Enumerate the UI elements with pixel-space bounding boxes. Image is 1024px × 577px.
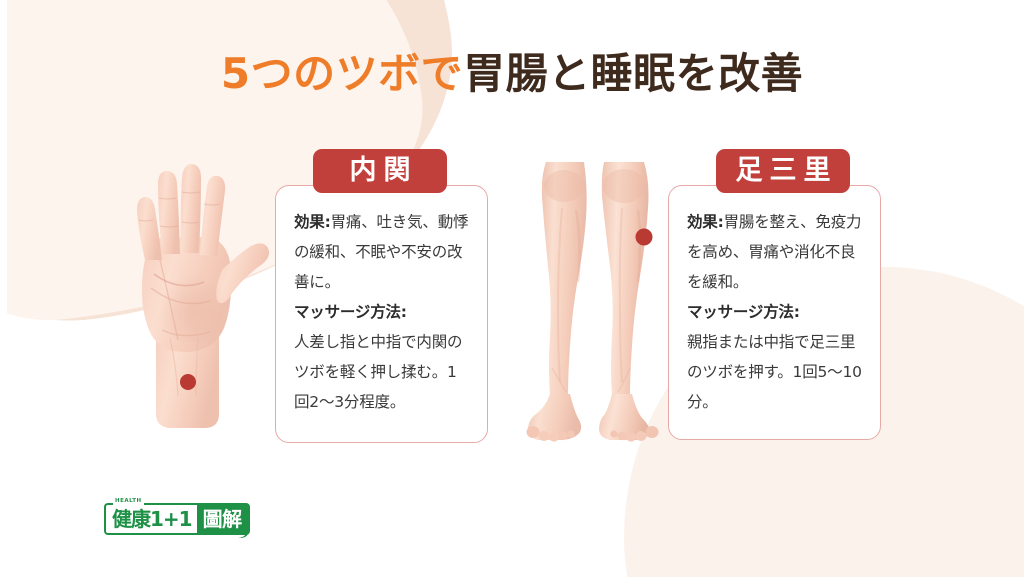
acupoint-marker-neiguan: [180, 374, 196, 390]
brand-logo-superscript: HEALTH: [113, 498, 144, 505]
brand-logo-right: 圖解: [197, 503, 250, 535]
neiguan-method-text: 人差し指と中指で内関のツボを軽く押し揉む。1回2〜3分程度。: [294, 333, 462, 411]
infographic-canvas: 5つのツボで胃腸と睡眠を改善: [0, 0, 1024, 577]
brand-logo: HEALTH 健康1+1 圖解: [104, 503, 250, 535]
point-card-zusanli: 効果:胃腸を整え、免疫力を高め、胃痛や消化不良を緩和。 マッサージ方法: 親指ま…: [668, 185, 881, 440]
page-title-main: 胃腸と睡眠を改善: [463, 49, 803, 98]
page-title: 5つのツボで胃腸と睡眠を改善: [0, 40, 1024, 101]
zusanli-method: マッサージ方法: 親指または中指で足三里のツボを押す。1回5〜10分。: [687, 298, 862, 417]
page-title-highlight: 5つのツボで: [221, 49, 463, 98]
brand-logo-right-text: 圖解: [203, 507, 242, 531]
zusanli-method-label: マッサージ方法:: [687, 303, 800, 321]
leaf-icon: [238, 529, 249, 538]
zusanli-effect: 効果:胃腸を整え、免疫力を高め、胃痛や消化不良を緩和。: [687, 208, 862, 297]
neiguan-method: マッサージ方法: 人差し指と中指で内関のツボを軽く押し揉む。1回2〜3分程度。: [294, 298, 469, 417]
acupoint-marker-zusanli: [636, 229, 653, 246]
zusanli-effect-label: 効果:: [687, 213, 724, 231]
point-card-zusanli-body: 効果:胃腸を整え、免疫力を高め、胃痛や消化不良を緩和。 マッサージ方法: 親指ま…: [669, 186, 880, 417]
brand-logo-left: HEALTH 健康1+1: [104, 503, 197, 535]
neiguan-method-label: マッサージ方法:: [294, 303, 407, 321]
legs-illustration: [520, 160, 680, 460]
point-badge-neiguan: 内関: [313, 149, 447, 193]
hand-illustration: [118, 152, 278, 442]
neiguan-effect-label: 効果:: [294, 213, 331, 231]
point-badge-zusanli: 足三里: [716, 149, 850, 193]
neiguan-effect: 効果:胃痛、吐き気、動悸の緩和、不眠や不安の改善に。: [294, 208, 469, 297]
point-card-neiguan-body: 効果:胃痛、吐き気、動悸の緩和、不眠や不安の改善に。 マッサージ方法: 人差し指…: [276, 186, 487, 417]
zusanli-method-text: 親指または中指で足三里のツボを押す。1回5〜10分。: [687, 333, 862, 411]
brand-logo-left-text: 健康1+1: [112, 507, 192, 531]
point-card-neiguan: 効果:胃痛、吐き気、動悸の緩和、不眠や不安の改善に。 マッサージ方法: 人差し指…: [275, 185, 488, 443]
